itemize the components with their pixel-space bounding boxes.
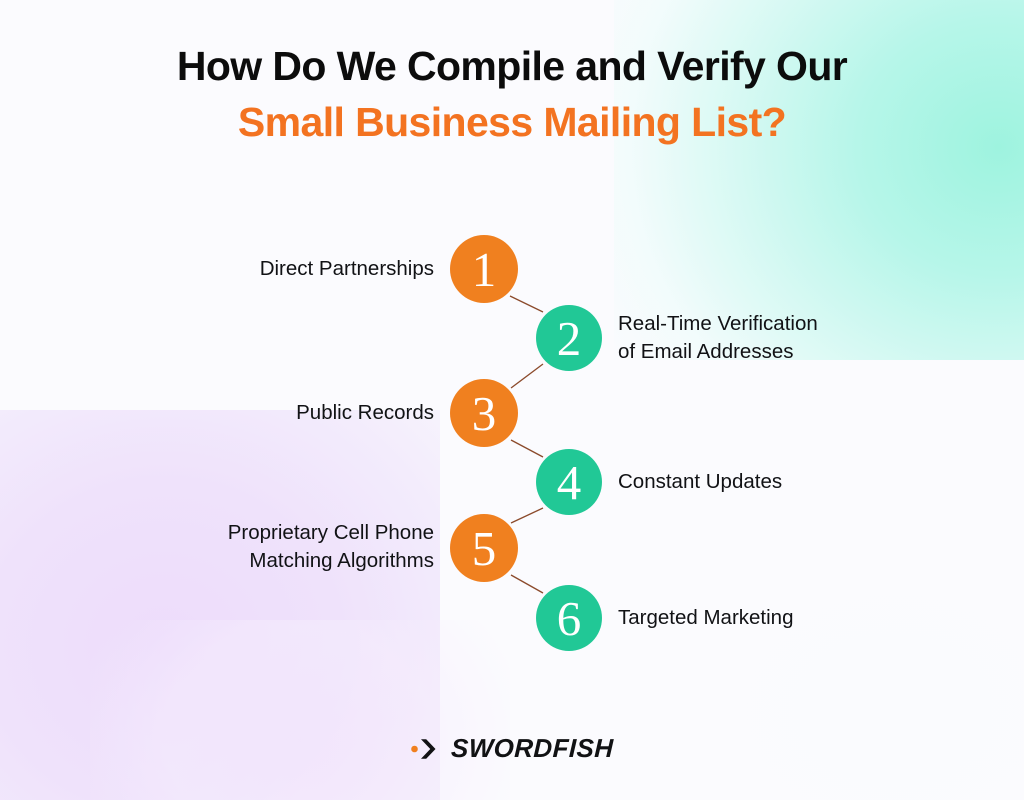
step-bubble-6[interactable]: 6 (536, 585, 602, 651)
step-node-4[interactable]: 4 Constant Updates (536, 449, 602, 515)
step-label-5: Proprietary Cell Phone Matching Algorith… (124, 519, 434, 576)
step-label-4: Constant Updates (618, 468, 918, 496)
step-bubble-2[interactable]: 2 (536, 305, 602, 371)
step-bubble-3[interactable]: 3 (450, 379, 518, 447)
step-node-2[interactable]: 2 Real-Time Verification of Email Addres… (536, 305, 602, 371)
brand-logo[interactable]: SWORDFISH (0, 733, 1024, 764)
step-bubble-4[interactable]: 4 (536, 449, 602, 515)
step-node-1[interactable]: 1 Direct Partnerships (450, 235, 518, 303)
step-node-6[interactable]: 6 Targeted Marketing (536, 585, 602, 651)
step-label-2: Real-Time Verification of Email Addresse… (618, 310, 918, 367)
title-line-2: Small Business Mailing List? (0, 100, 1024, 146)
brand-name: SWORDFISH (451, 733, 615, 764)
step-label-3: Public Records (124, 399, 434, 427)
step-number-4: 4 (557, 458, 582, 507)
infographic-canvas: How Do We Compile and Verify Our Small B… (0, 0, 1024, 800)
step-node-3[interactable]: 3 Public Records (450, 379, 518, 447)
step-bubble-1[interactable]: 1 (450, 235, 518, 303)
step-number-6: 6 (557, 594, 582, 643)
step-node-5[interactable]: 5 Proprietary Cell Phone Matching Algori… (450, 514, 518, 582)
step-number-5: 5 (472, 524, 497, 573)
page-title: How Do We Compile and Verify Our Small B… (0, 44, 1024, 146)
step-label-6: Targeted Marketing (618, 604, 918, 632)
chevron-arrow-icon (410, 734, 440, 764)
step-number-1: 1 (472, 245, 497, 294)
step-number-2: 2 (557, 314, 582, 363)
step-bubble-5[interactable]: 5 (450, 514, 518, 582)
step-label-1: Direct Partnerships (124, 255, 434, 283)
step-number-3: 3 (472, 389, 497, 438)
title-line-1: How Do We Compile and Verify Our (0, 44, 1024, 90)
